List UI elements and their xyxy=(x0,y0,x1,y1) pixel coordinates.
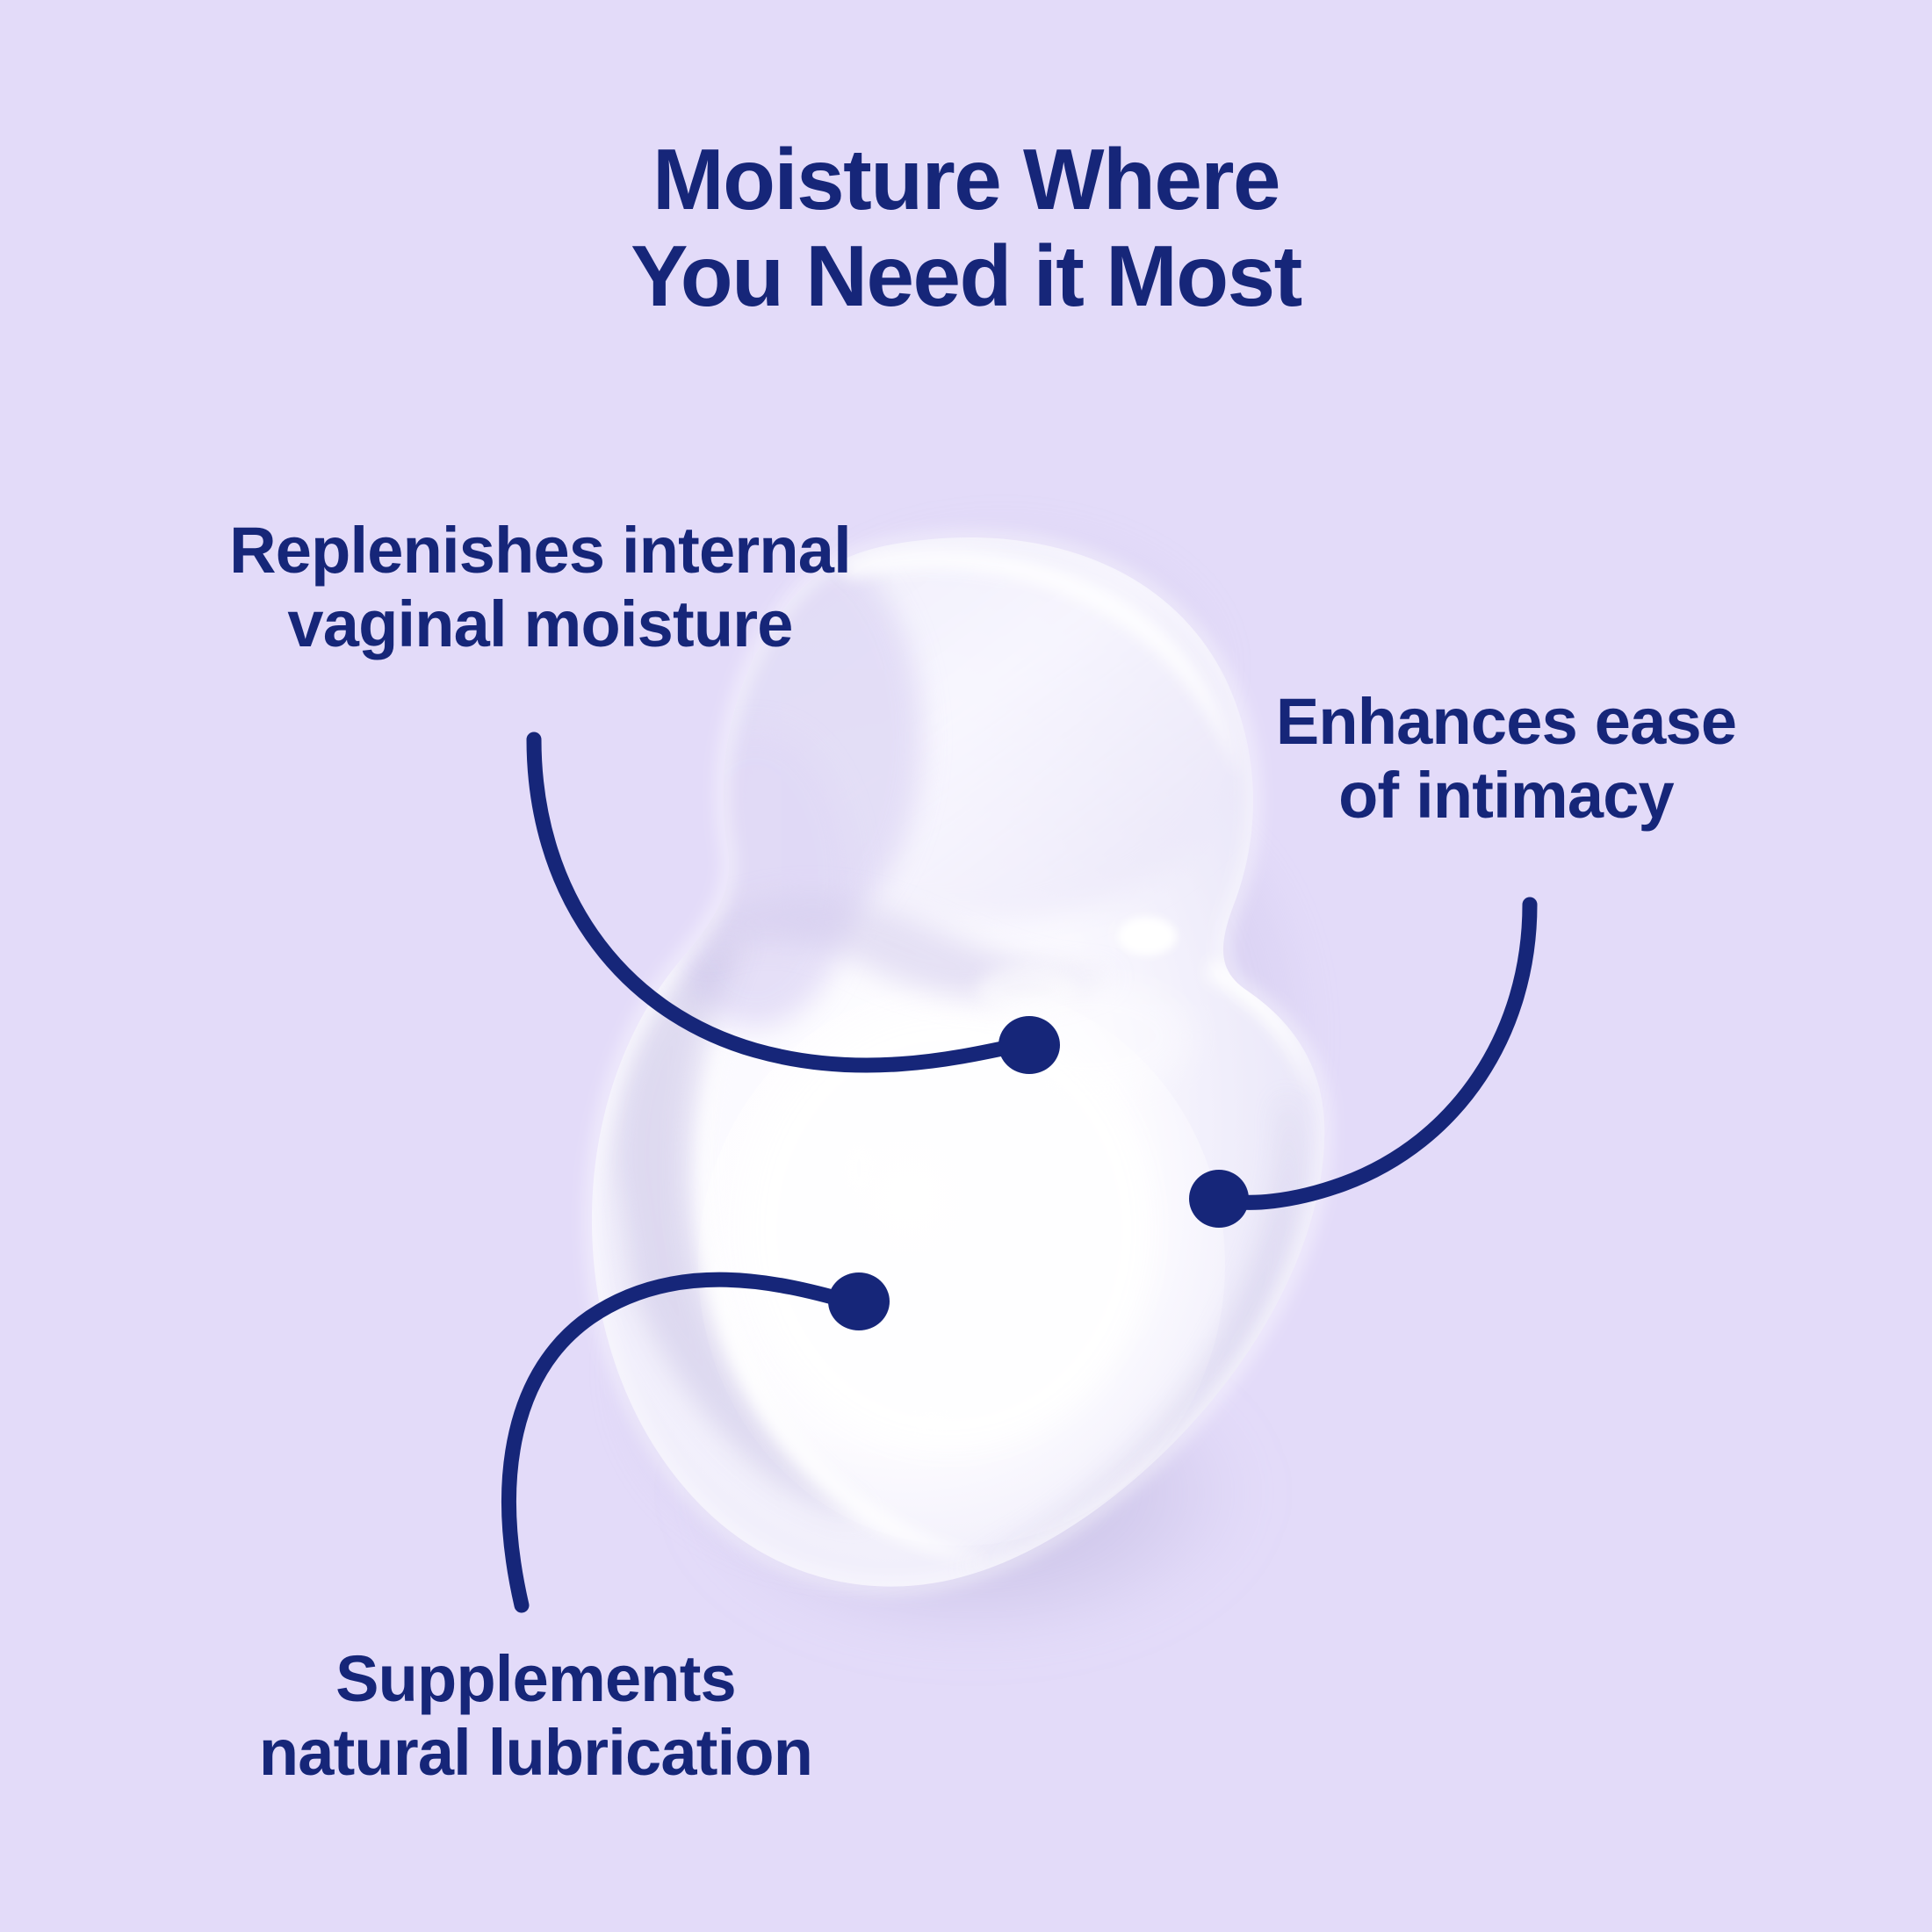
callout-leader-replenishes xyxy=(534,739,1060,1074)
leader-line-lubrication xyxy=(509,1280,848,1605)
callout-dot-intimacy xyxy=(1189,1170,1249,1228)
creative-canvas: Moisture Where You Need it Most Replenis… xyxy=(0,0,1932,1932)
callout-leader-lubrication xyxy=(509,1272,890,1605)
leader-line-replenishes xyxy=(534,739,1019,1065)
callout-annotations xyxy=(0,0,1932,1932)
callout-dot-replenishes xyxy=(998,1016,1060,1074)
callout-leader-intimacy xyxy=(1189,905,1530,1228)
leader-line-intimacy xyxy=(1229,905,1530,1202)
callout-dot-lubrication xyxy=(828,1272,890,1330)
